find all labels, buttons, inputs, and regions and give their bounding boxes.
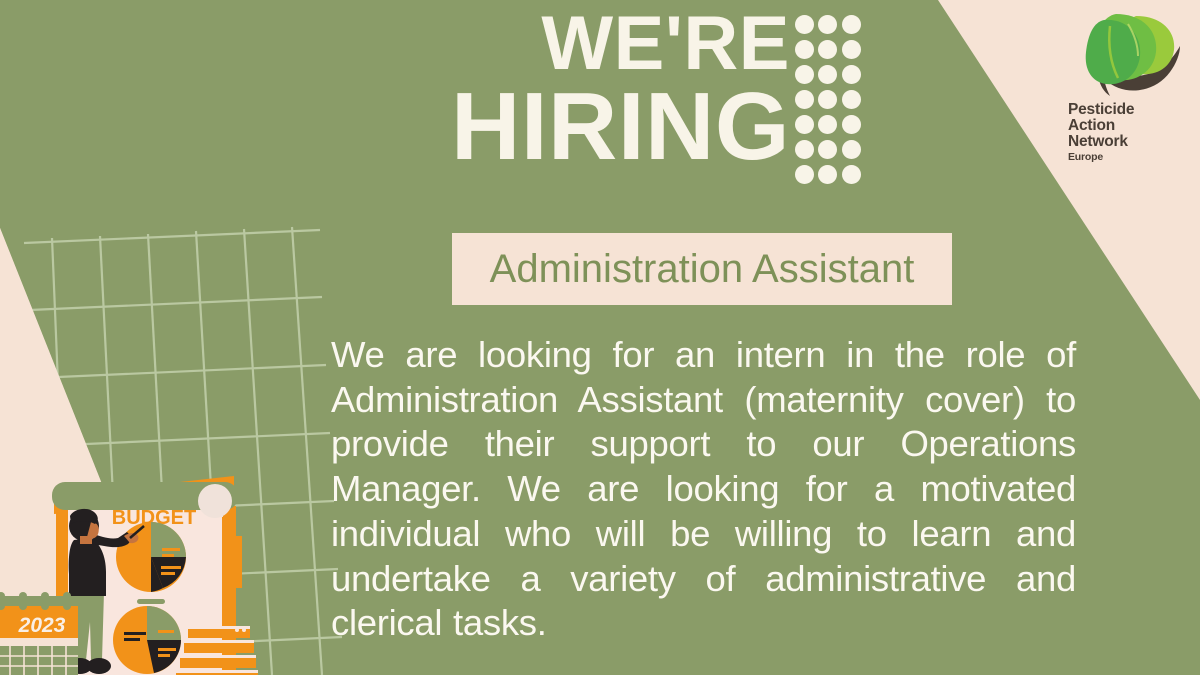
- stacked-coins: [176, 626, 258, 675]
- job-posting-poster: WE'RE HIRING Pesticide Action: [0, 0, 1200, 675]
- headline: WE'RE HIRING: [330, 8, 790, 173]
- logo-line-1: Pesticide: [1068, 101, 1134, 118]
- pie-chart-bottom: [113, 606, 181, 674]
- logo-region: Europe: [1068, 152, 1188, 163]
- job-title-band: Administration Assistant: [452, 233, 952, 305]
- job-title-label: Administration Assistant: [490, 247, 915, 292]
- dot-grid-icon: [793, 12, 863, 187]
- job-description-paragraph: We are looking for an intern in the role…: [331, 333, 1076, 646]
- pan-europe-logo: Pesticide Action Network Europe: [1062, 10, 1192, 195]
- desk-calendar: 2023: [0, 592, 78, 675]
- logo-wordmark: Pesticide Action Network Europe: [1068, 102, 1188, 163]
- logo-line-2: Action: [1068, 117, 1115, 134]
- headline-line-2: HIRING: [330, 81, 790, 173]
- calendar-year-text: 2023: [18, 614, 66, 637]
- headline-line-1: WE'RE: [330, 8, 790, 81]
- budget-presentation-illustration: BUDGET: [0, 444, 264, 675]
- logo-line-3: Network: [1068, 133, 1128, 150]
- leaf-logo-icon: [1076, 10, 1184, 102]
